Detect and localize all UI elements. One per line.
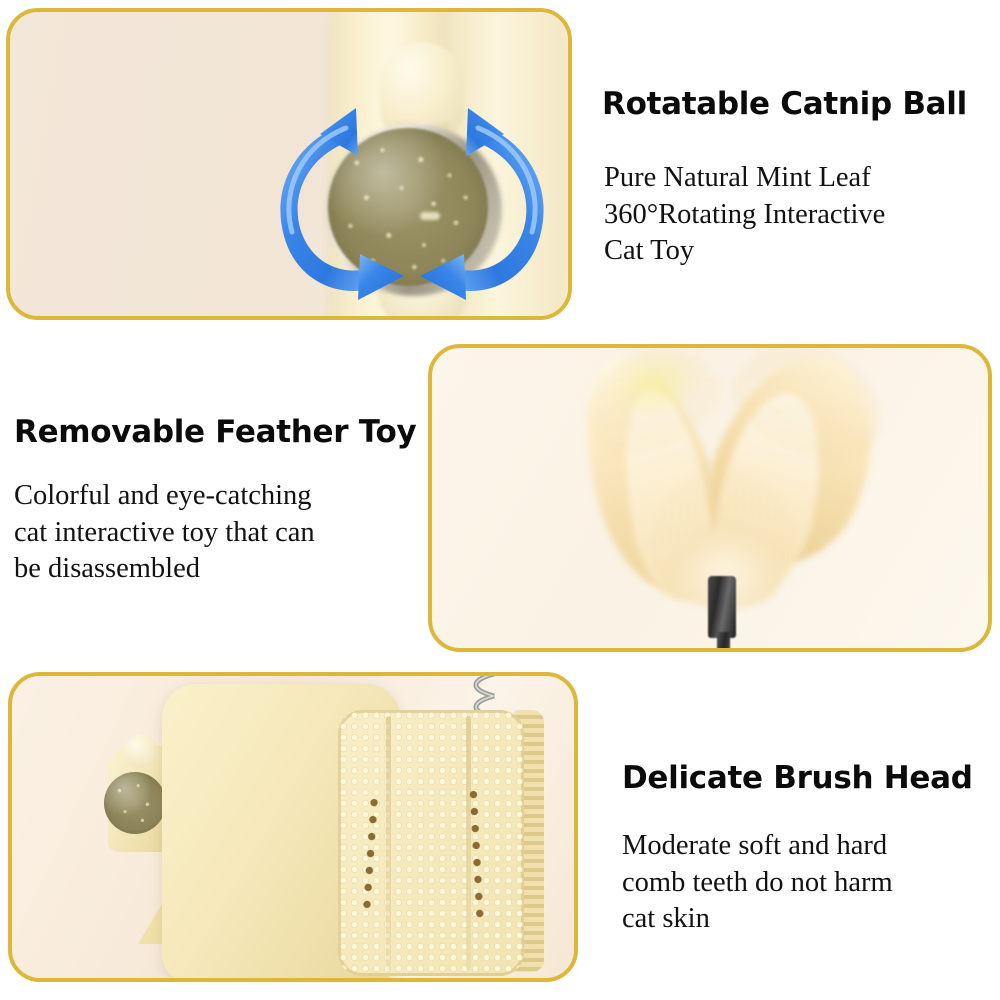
feature-description-line: Moderate soft and hard [622, 828, 978, 865]
nub-column-separator [466, 716, 471, 970]
brush-nub-pad [338, 710, 524, 976]
feature-title-delicate-brush-head: Delicate Brush Head [622, 760, 973, 796]
rotate-arrow-left [280, 108, 404, 300]
feature-description-line: cat interactive toy that can [14, 515, 408, 552]
feature-description-line: cat skin [622, 901, 978, 938]
product-feature-infographic: Rotatable Catnip Ball Pure Natural Mint … [0, 0, 1000, 1000]
catnip-ball-photo [10, 12, 568, 316]
catnip-ball-small [104, 772, 166, 834]
feature-description-delicate-brush-head: Moderate soft and hard comb teeth do not… [622, 828, 978, 938]
feature-description-line: Cat Toy [604, 233, 964, 270]
brush-head-photo [12, 676, 574, 978]
feature-description-rotatable-catnip-ball: Pure Natural Mint Leaf 360°Rotating Inte… [604, 160, 964, 270]
feature-image-delicate-brush-head [8, 672, 578, 982]
feature-image-removable-feather-toy [428, 344, 992, 652]
feather-connector-rod [708, 576, 736, 638]
catnip-ball-clip-knob [124, 734, 158, 768]
brush-head-body [162, 684, 400, 982]
feature-title-removable-feather-toy: Removable Feather Toy [14, 414, 416, 450]
feature-description-line: Pure Natural Mint Leaf [604, 160, 964, 197]
feature-description-line: comb teeth do not harm [622, 865, 978, 902]
feature-title-rotatable-catnip-ball: Rotatable Catnip Ball [602, 86, 967, 122]
feature-description-line: Colorful and eye-catching [14, 478, 408, 515]
catnip-ball-small-texture [104, 772, 166, 834]
nub-column-separator [386, 716, 391, 970]
rotation-arrows-icon [262, 94, 562, 304]
feather-toy-photo [432, 348, 988, 648]
rotate-arrow-right [420, 108, 544, 300]
feature-description-line: be disassembled [14, 551, 408, 588]
feature-description-line: 360°Rotating Interactive [604, 197, 964, 234]
feather-connector-tip [717, 632, 730, 652]
feature-image-rotatable-catnip-ball [6, 8, 572, 320]
feature-description-removable-feather-toy: Colorful and eye-catching cat interactiv… [14, 478, 408, 588]
